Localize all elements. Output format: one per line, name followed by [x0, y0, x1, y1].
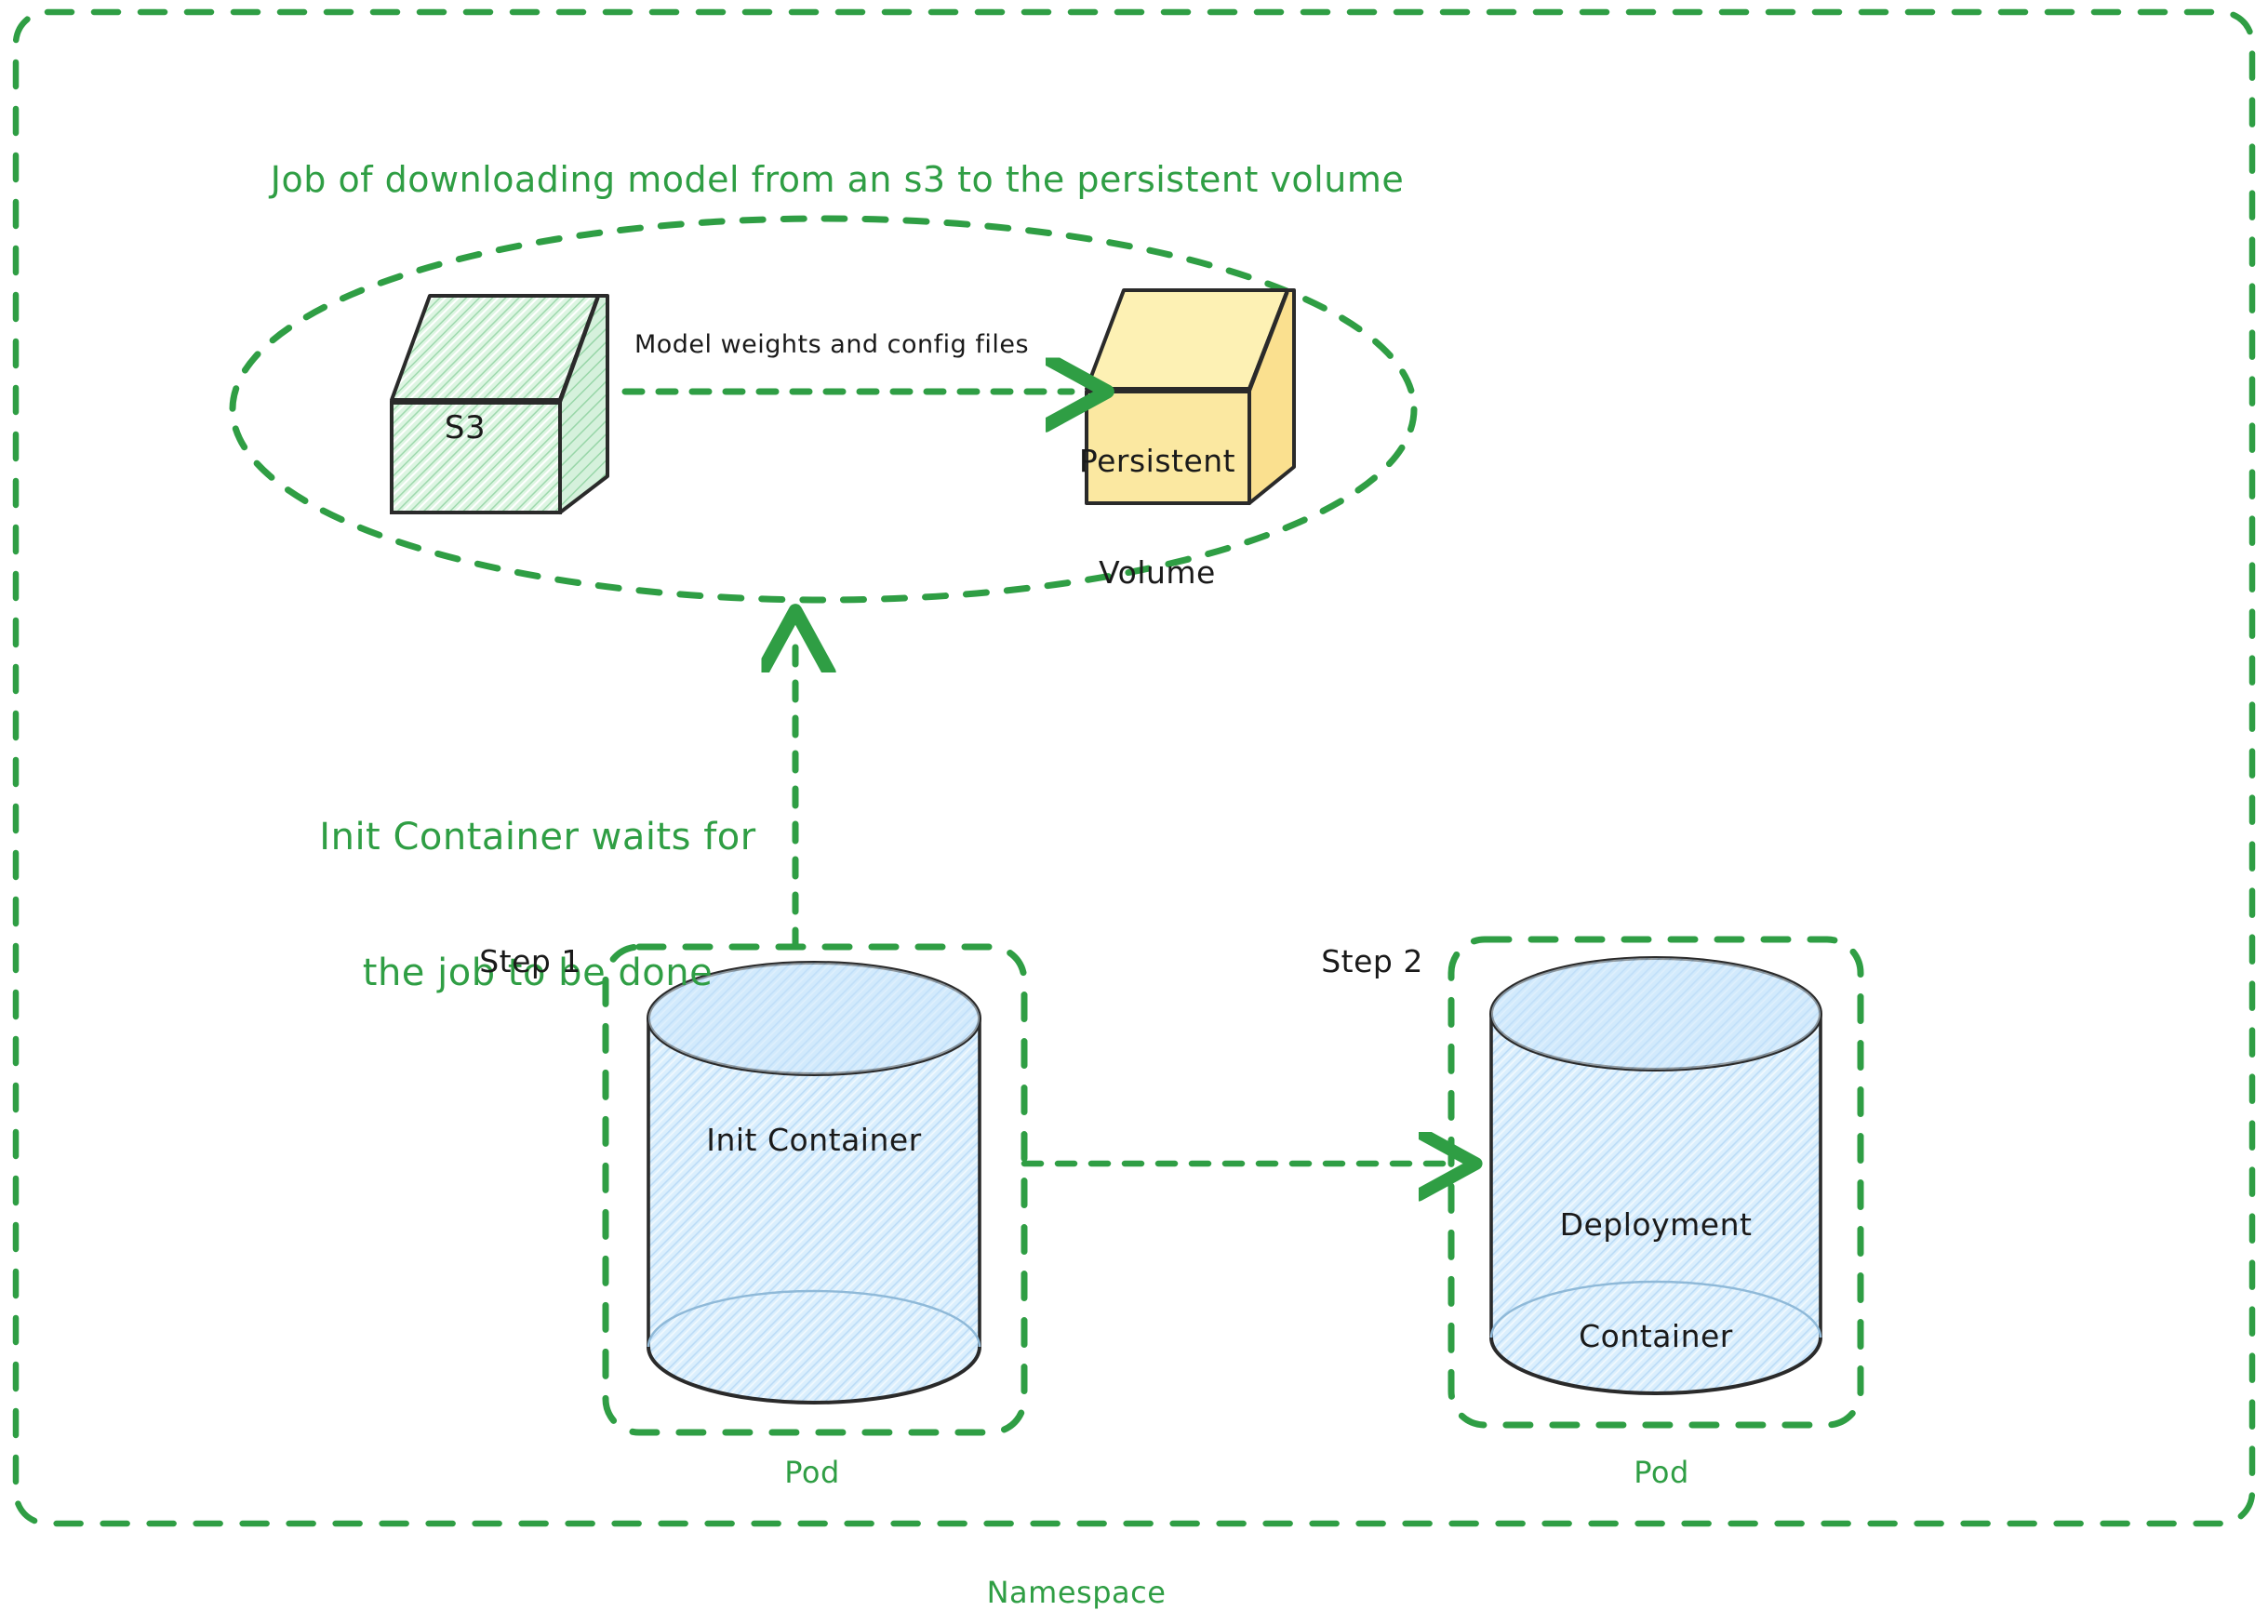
- step-2-label: Step 2: [1321, 943, 1423, 980]
- persistent-volume-label-line-2: Volume: [1079, 554, 1235, 592]
- pod-1-label: Pod: [784, 1455, 840, 1491]
- init-wait-label: Init Container waits for the job to be d…: [319, 724, 755, 1086]
- deployment-container-label-line-1: Deployment: [1560, 1206, 1753, 1244]
- transfer-arrow-label: Model weights and config files: [634, 330, 1029, 361]
- job-title-label: Job of downloading model from an s3 to t…: [271, 158, 1404, 201]
- s3-cube-label: S3: [445, 409, 486, 447]
- namespace-label: Namespace: [987, 1575, 1167, 1611]
- deployment-container-label-line-2: Container: [1560, 1318, 1753, 1355]
- s3-cube-shape: [392, 296, 607, 512]
- init-wait-label-line-1: Init Container waits for: [319, 815, 755, 860]
- pod-2-label: Pod: [1634, 1455, 1689, 1491]
- persistent-volume-label-line-1: Persistent: [1079, 443, 1235, 480]
- deployment-container-label: Deployment Container: [1560, 1131, 1753, 1431]
- step-1-label: Step 1: [479, 943, 581, 980]
- init-container-label: Init Container: [706, 1122, 922, 1159]
- persistent-volume-cube-label: Persistent Volume: [1079, 367, 1235, 667]
- diagram-canvas: Job of downloading model from an s3 to t…: [0, 0, 2268, 1624]
